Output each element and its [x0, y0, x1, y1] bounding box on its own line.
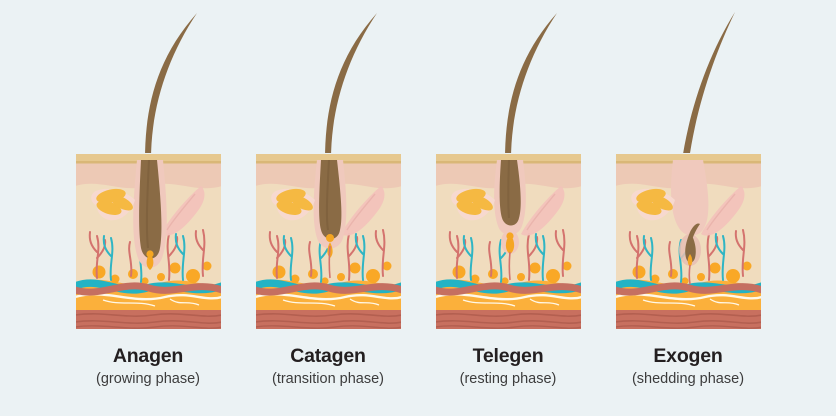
anagen-subtitle: (growing phase) [96, 372, 200, 387]
phase-telegen: Telegen (resting phase) [435, 0, 582, 386]
exogen-title: Exogen [632, 347, 744, 367]
telegen-illustration [435, 0, 582, 330]
anagen-illustration [75, 0, 222, 330]
catagen-illustration [255, 0, 402, 330]
hair-shaft-external [145, 13, 197, 160]
anagen-title: Anagen [96, 347, 200, 367]
exogen-illustration [615, 0, 762, 330]
catagen-subtitle: (transition phase) [272, 372, 384, 387]
catagen-caption: Catagen (transition phase) [272, 347, 384, 386]
exogen-subtitle: (shedding phase) [632, 372, 744, 387]
catagen-title: Catagen [272, 347, 384, 367]
anagen-caption: Anagen (growing phase) [96, 347, 200, 386]
hair-shaft-external [505, 13, 557, 160]
telegen-subtitle: (resting phase) [460, 372, 557, 387]
hair-shaft-external [325, 13, 377, 160]
exogen-caption: Exogen (shedding phase) [632, 347, 744, 386]
phase-anagen: Anagen (growing phase) [75, 0, 222, 386]
telegen-caption: Telegen (resting phase) [460, 347, 557, 386]
phase-catagen: Catagen (transition phase) [255, 0, 402, 386]
phase-list: Anagen (growing phase) [0, 0, 836, 416]
telegen-title: Telegen [460, 347, 557, 367]
hair-growth-cycle-diagram: Anagen (growing phase) [0, 0, 836, 416]
phase-exogen: Exogen (shedding phase) [615, 0, 762, 386]
